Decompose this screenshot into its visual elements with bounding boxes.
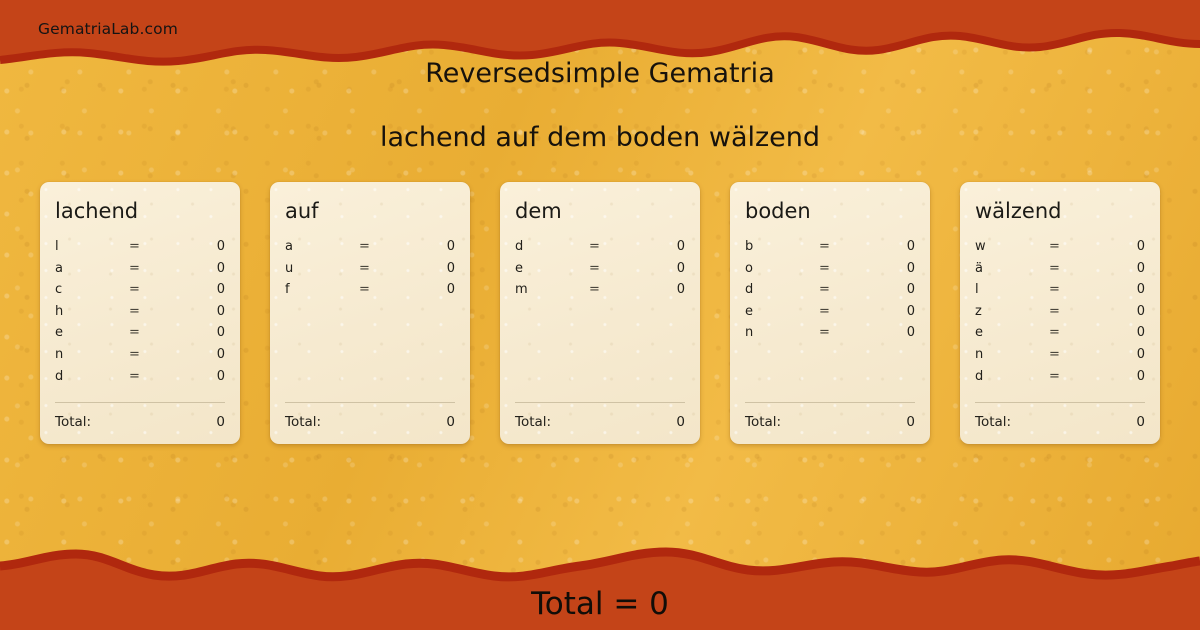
letter-row: d=0 [745, 282, 915, 304]
letter-char: h [55, 304, 129, 319]
equals-sign: = [1049, 282, 1089, 297]
letter-row: c=0 [55, 282, 225, 304]
letter-char: ä [975, 261, 1049, 276]
letter-char: m [515, 282, 589, 297]
equals-sign: = [129, 282, 169, 297]
equals-sign: = [819, 239, 859, 254]
equals-sign: = [129, 347, 169, 362]
letter-char: d [975, 369, 1049, 384]
letter-row: ä=0 [975, 261, 1145, 283]
letter-row: w=0 [975, 239, 1145, 261]
word-card-title: dem [515, 200, 685, 223]
card-total-value: 0 [446, 414, 455, 430]
card-total-value: 0 [906, 414, 915, 430]
letter-list: b=0o=0d=0e=0n=0 [745, 239, 915, 396]
letter-char: a [55, 261, 129, 276]
letter-value: 0 [399, 239, 455, 254]
letter-char: e [515, 261, 589, 276]
equals-sign: = [589, 261, 629, 276]
letter-value: 0 [169, 347, 225, 362]
letter-value: 0 [1089, 369, 1145, 384]
letter-value: 0 [859, 282, 915, 297]
card-total-row: Total:0 [975, 403, 1145, 430]
word-card: demd=0e=0m=0Total:0 [500, 182, 700, 444]
word-card-title: lachend [55, 200, 225, 223]
letter-row: d=0 [515, 239, 685, 261]
letter-row: n=0 [975, 347, 1145, 369]
card-total-row: Total:0 [745, 403, 915, 430]
letter-char: n [975, 347, 1049, 362]
letter-value: 0 [399, 261, 455, 276]
letter-row: f=0 [285, 282, 455, 304]
site-logo[interactable]: GematriaLab.com [38, 20, 178, 38]
letter-value: 0 [169, 239, 225, 254]
equals-sign: = [1049, 347, 1089, 362]
letter-row: d=0 [975, 369, 1145, 391]
letter-char: n [55, 347, 129, 362]
equals-sign: = [589, 282, 629, 297]
equals-sign: = [819, 282, 859, 297]
card-total-label: Total: [285, 414, 321, 430]
letter-row: d=0 [55, 369, 225, 391]
phrase-subtitle: lachend auf dem boden wälzend [0, 122, 1200, 153]
letter-list: d=0e=0m=0 [515, 239, 685, 396]
word-card: lachendl=0a=0c=0h=0e=0n=0d=0Total:0 [40, 182, 240, 444]
letter-value: 0 [1089, 304, 1145, 319]
equals-sign: = [129, 261, 169, 276]
card-total-row: Total:0 [515, 403, 685, 430]
card-total-label: Total: [745, 414, 781, 430]
card-total-value: 0 [216, 414, 225, 430]
letter-char: e [55, 325, 129, 340]
letter-row: e=0 [55, 325, 225, 347]
letter-row: z=0 [975, 304, 1145, 326]
letter-char: f [285, 282, 359, 297]
card-total-label: Total: [975, 414, 1011, 430]
letter-row: l=0 [975, 282, 1145, 304]
letter-char: z [975, 304, 1049, 319]
letter-row: e=0 [745, 304, 915, 326]
letter-char: l [975, 282, 1049, 297]
page-title: Reversedsimple Gematria [0, 58, 1200, 89]
page-background: GematriaLab.com Reversedsimple Gematria … [0, 0, 1200, 630]
letter-value: 0 [1089, 325, 1145, 340]
letter-char: e [745, 304, 819, 319]
letter-row: a=0 [55, 261, 225, 283]
letter-row: a=0 [285, 239, 455, 261]
letter-list: w=0ä=0l=0z=0e=0n=0d=0 [975, 239, 1145, 396]
letter-value: 0 [399, 282, 455, 297]
letter-value: 0 [629, 261, 685, 276]
equals-sign: = [129, 369, 169, 384]
equals-sign: = [359, 282, 399, 297]
equals-sign: = [819, 304, 859, 319]
word-card: wälzendw=0ä=0l=0z=0e=0n=0d=0Total:0 [960, 182, 1160, 444]
letter-value: 0 [169, 369, 225, 384]
letter-row: o=0 [745, 261, 915, 283]
letter-char: b [745, 239, 819, 254]
equals-sign: = [1049, 239, 1089, 254]
word-card-title: auf [285, 200, 455, 223]
word-card-title: boden [745, 200, 915, 223]
letter-value: 0 [169, 261, 225, 276]
letter-char: e [975, 325, 1049, 340]
letter-char: n [745, 325, 819, 340]
letter-value: 0 [169, 325, 225, 340]
equals-sign: = [819, 325, 859, 340]
equals-sign: = [129, 239, 169, 254]
letter-row: b=0 [745, 239, 915, 261]
word-card-title: wälzend [975, 200, 1145, 223]
letter-char: w [975, 239, 1049, 254]
card-total-label: Total: [55, 414, 91, 430]
equals-sign: = [129, 325, 169, 340]
equals-sign: = [1049, 261, 1089, 276]
letter-row: n=0 [55, 347, 225, 369]
letter-list: a=0u=0f=0 [285, 239, 455, 396]
equals-sign: = [359, 261, 399, 276]
equals-sign: = [1049, 369, 1089, 384]
letter-char: c [55, 282, 129, 297]
word-card: aufa=0u=0f=0Total:0 [270, 182, 470, 444]
letter-row: e=0 [515, 261, 685, 283]
letter-value: 0 [859, 239, 915, 254]
letter-value: 0 [1089, 261, 1145, 276]
letter-char: a [285, 239, 359, 254]
letter-char: l [55, 239, 129, 254]
grand-total: Total = 0 [0, 586, 1200, 622]
equals-sign: = [819, 261, 859, 276]
equals-sign: = [1049, 325, 1089, 340]
equals-sign: = [1049, 304, 1089, 319]
letter-row: n=0 [745, 325, 915, 347]
card-total-value: 0 [676, 414, 685, 430]
letter-row: m=0 [515, 282, 685, 304]
letter-row: l=0 [55, 239, 225, 261]
letter-row: h=0 [55, 304, 225, 326]
letter-row: u=0 [285, 261, 455, 283]
letter-char: o [745, 261, 819, 276]
card-total-value: 0 [1136, 414, 1145, 430]
equals-sign: = [589, 239, 629, 254]
card-total-row: Total:0 [55, 403, 225, 430]
letter-char: d [745, 282, 819, 297]
letter-value: 0 [629, 239, 685, 254]
letter-char: u [285, 261, 359, 276]
letter-char: d [55, 369, 129, 384]
letter-row: e=0 [975, 325, 1145, 347]
letter-value: 0 [1089, 347, 1145, 362]
letter-value: 0 [1089, 239, 1145, 254]
card-total-row: Total:0 [285, 403, 455, 430]
letter-value: 0 [859, 304, 915, 319]
letter-value: 0 [1089, 282, 1145, 297]
letter-value: 0 [629, 282, 685, 297]
equals-sign: = [129, 304, 169, 319]
word-cards-row: lachendl=0a=0c=0h=0e=0n=0d=0Total:0aufa=… [40, 182, 1160, 444]
letter-value: 0 [169, 304, 225, 319]
letter-value: 0 [169, 282, 225, 297]
equals-sign: = [359, 239, 399, 254]
letter-value: 0 [859, 261, 915, 276]
letter-char: d [515, 239, 589, 254]
word-card: bodenb=0o=0d=0e=0n=0Total:0 [730, 182, 930, 444]
letter-list: l=0a=0c=0h=0e=0n=0d=0 [55, 239, 225, 396]
card-total-label: Total: [515, 414, 551, 430]
letter-value: 0 [859, 325, 915, 340]
